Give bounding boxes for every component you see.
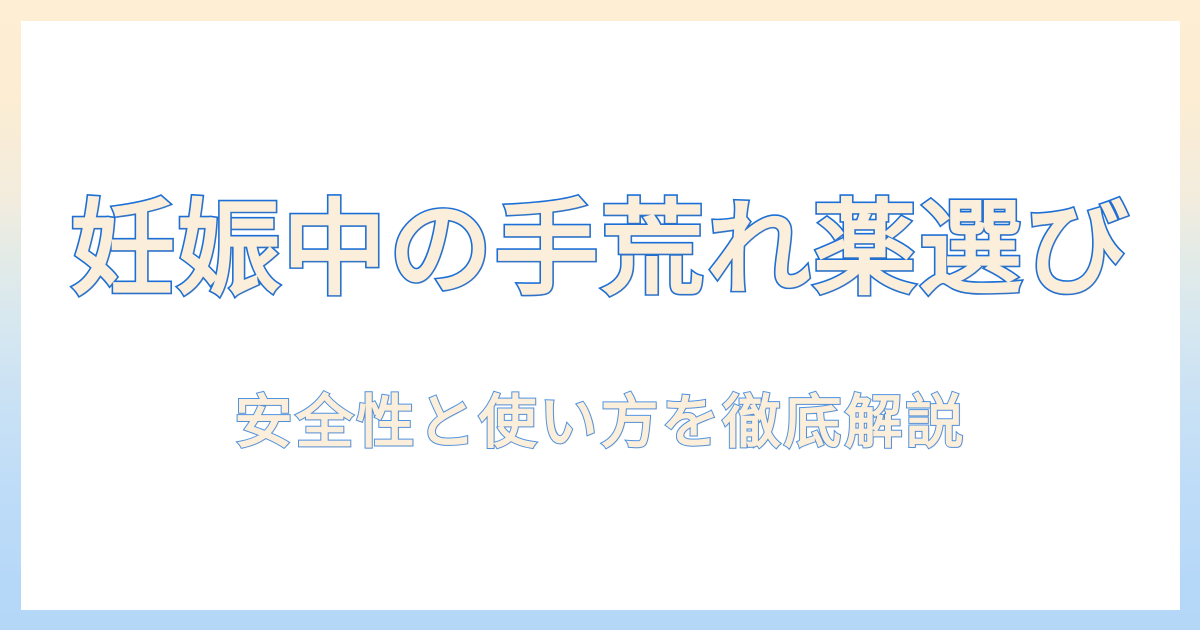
subtitle-text: 安全性と使い方を徹底解説 [234, 393, 966, 451]
white-content-canvas: 妊娠中の手荒れ薬選び 安全性と使い方を徹底解説 [21, 21, 1180, 610]
title-text: 妊娠中の手荒れ薬選び [70, 197, 1130, 301]
eyecatch-card: 妊娠中の手荒れ薬選び 安全性と使い方を徹底解説 [0, 0, 1200, 630]
page-subtitle: 安全性と使い方を徹底解説 [21, 393, 1180, 451]
page-title: 妊娠中の手荒れ薬選び [21, 197, 1180, 301]
